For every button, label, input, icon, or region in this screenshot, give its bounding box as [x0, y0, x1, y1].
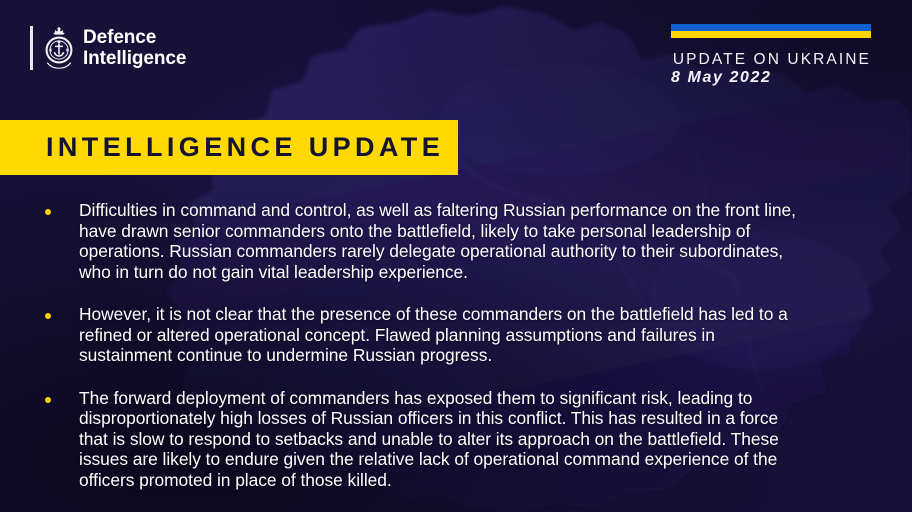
intelligence-update-banner: INTELLIGENCE UPDATE	[0, 120, 458, 175]
update-header-block: UPDATE ON UKRAINE 8 May 2022	[671, 24, 871, 87]
bullet-dot-icon	[45, 313, 51, 319]
bullet-dot-icon	[45, 209, 51, 215]
bullet-item: The forward deployment of commanders has…	[40, 388, 800, 491]
banner-label: INTELLIGENCE UPDATE	[0, 132, 444, 163]
logo-divider-rule	[30, 26, 33, 70]
bullet-dot-icon	[45, 397, 51, 403]
bullet-list: Difficulties in command and control, as …	[40, 200, 800, 490]
bullet-item: Difficulties in command and control, as …	[40, 200, 800, 282]
intelligence-update-slide: Defence Intelligence UPDATE ON UKRAINE 8…	[0, 0, 912, 512]
logo-line-intelligence: Intelligence	[83, 48, 186, 69]
update-date: 8 May 2022	[671, 69, 871, 87]
logo-line-defence: Defence	[83, 27, 186, 48]
bullet-text: Difficulties in command and control, as …	[79, 200, 800, 282]
logo-wordmark: Defence Intelligence	[83, 27, 186, 69]
bullet-text: However, it is not clear that the presen…	[79, 304, 800, 366]
flag-stripe-blue	[671, 24, 871, 31]
royal-crest-icon	[42, 26, 76, 70]
bullet-text: The forward deployment of commanders has…	[79, 388, 800, 491]
ukraine-flag-icon	[671, 24, 871, 38]
update-on-ukraine-title: UPDATE ON UKRAINE	[671, 51, 871, 68]
flag-stripe-yellow	[671, 31, 871, 38]
bullet-item: However, it is not clear that the presen…	[40, 304, 800, 366]
defence-intelligence-logo: Defence Intelligence	[30, 22, 186, 74]
